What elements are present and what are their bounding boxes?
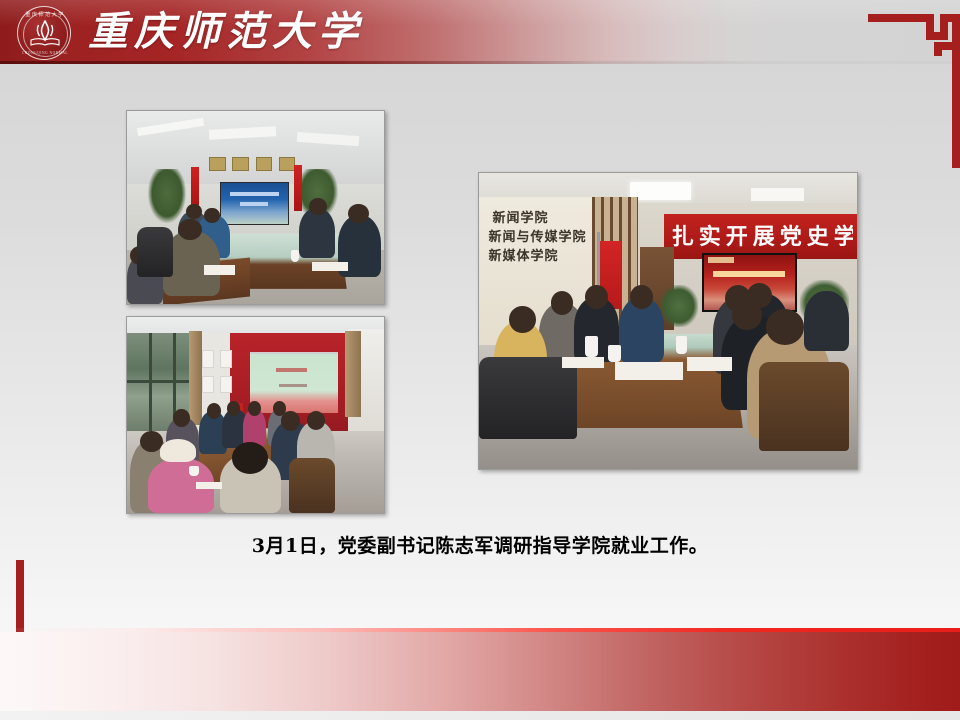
calligraphy-line-3: 新媒体学院	[488, 247, 598, 266]
photo3-red-banner-text: 扎实开展党史学	[672, 217, 853, 255]
slide-caption: 3月1日，党委副书记陈志军调研指导学院就业工作。	[0, 533, 960, 559]
slide-canvas: 重庆师范大学 CHONGQING NORMAL 重庆师范大学	[0, 0, 960, 720]
photo3-wall-calligraphy: 新闻学院 新闻与传媒学院 新媒体学院	[488, 209, 598, 266]
seal-chinese-arc: 重庆师范大学	[18, 11, 72, 18]
footer-bottom-strip	[0, 711, 960, 720]
chinese-meander-corner-icon-top-right	[864, 8, 960, 168]
footer-band	[0, 632, 960, 720]
photo-meeting-blue-screen[interactable]	[126, 110, 385, 305]
calligraphy-line-1: 新闻学院	[492, 209, 598, 228]
calligraphy-line-2: 新闻与传媒学院	[488, 228, 598, 247]
seal-english-arc: CHONGQING NORMAL	[18, 51, 72, 55]
header-banner: 重庆师范大学 CHONGQING NORMAL 重庆师范大学	[0, 0, 960, 64]
photo-meeting-red-wall[interactable]	[126, 316, 385, 514]
university-seal-icon: 重庆师范大学 CHONGQING NORMAL	[17, 6, 71, 60]
photo-meeting-calligraphy[interactable]: 扎实开展党史学 新闻学院 新闻与传媒学院 新媒体学院	[478, 172, 858, 470]
page-title: 重庆师范大学	[88, 2, 364, 62]
seal-book-icon	[29, 38, 61, 47]
